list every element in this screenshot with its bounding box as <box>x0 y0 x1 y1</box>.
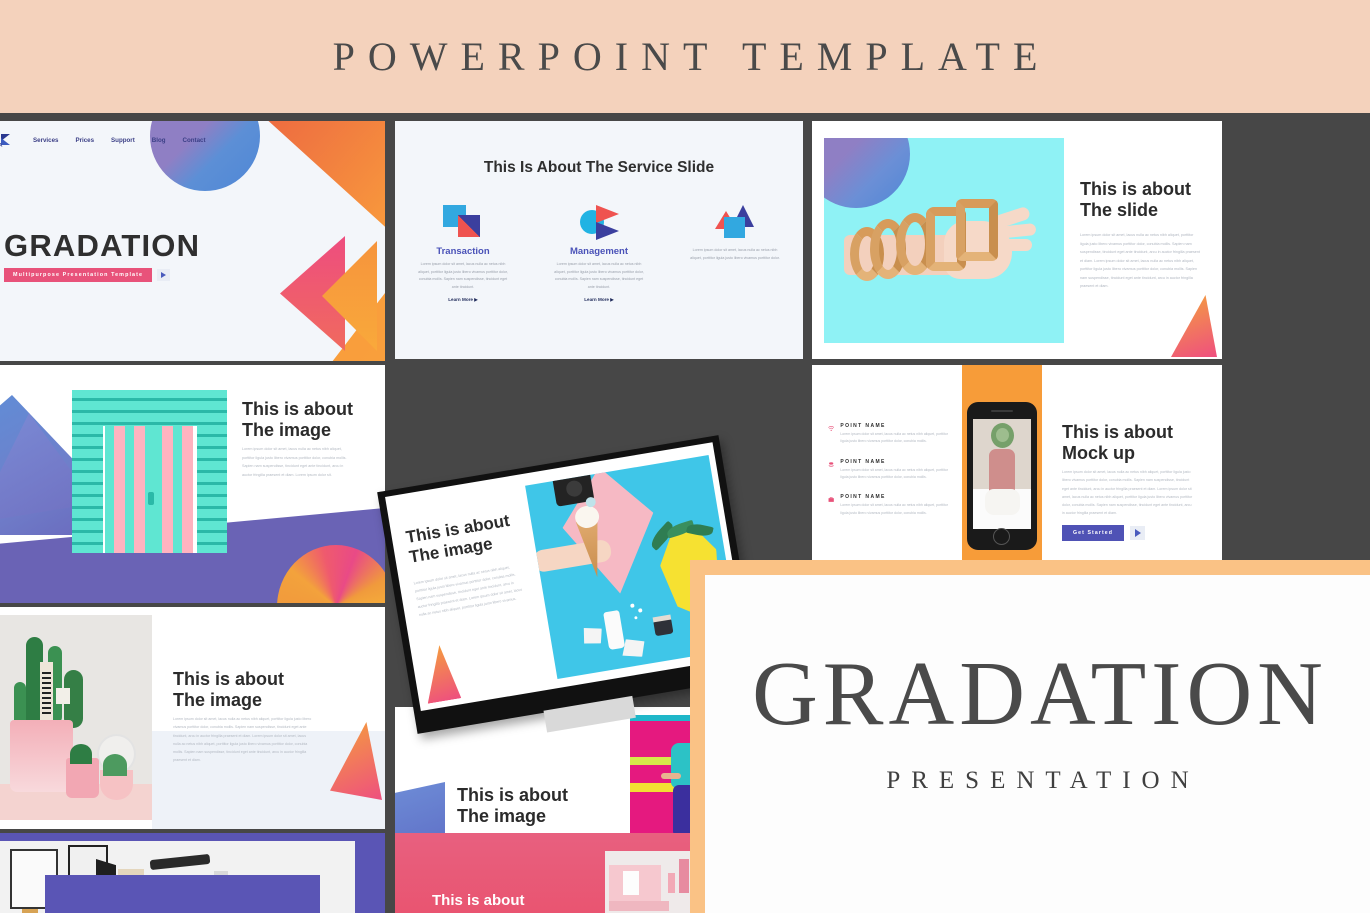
hand-bread-photo <box>824 138 1064 343</box>
slide-cactus-image[interactable]: This is about The image Lorem ipsum dolo… <box>0 607 385 829</box>
point-name: POINT NAME <box>840 494 953 500</box>
page-header: POWERPOINT TEMPLATE <box>0 0 1370 113</box>
hand-slide-heading: This is about The slide <box>1080 179 1191 221</box>
door-slide-heading: This is about The image <box>242 399 353 441</box>
list-item: POINT NAME Lorem ipsum dolor sit amet, l… <box>828 459 953 482</box>
get-started-button[interactable]: Get Started <box>1062 525 1124 541</box>
door-slide-body: Lorem ipsum dolor sit amet, lacus nulla … <box>242 445 354 479</box>
money-hand-icon <box>828 459 834 470</box>
point-text: Lorem ipsum dolor sit amet, lacus nulla … <box>840 502 953 517</box>
gradation-card-inner: GRADATION PRESENTATION <box>705 575 1370 913</box>
play-button-icon[interactable] <box>157 269 170 281</box>
cover-title: GRADATION <box>4 228 200 264</box>
cover-badge: Multipurpose Presentation Template <box>4 268 152 282</box>
cactus-slide-body: Lorem ipsum dolor sit amet, lacus nulla … <box>173 715 313 765</box>
overlay-title: GRADATION <box>747 648 1328 739</box>
page-title: POWERPOINT TEMPLATE <box>320 33 1051 80</box>
cover-nav-item-support[interactable]: Support <box>111 137 135 144</box>
service-column-title: Transaction <box>395 246 531 257</box>
gradation-presentation-card[interactable]: GRADATION PRESENTATION <box>690 560 1370 913</box>
pink-slide-heading: This is about <box>432 892 525 909</box>
transaction-squares-icon <box>395 201 531 243</box>
service-column-management: Management Lorem ipsum dolor sit amet, l… <box>531 201 667 303</box>
cactus-slide-heading: This is about The image <box>173 669 284 711</box>
mockup-button-row: Get Started <box>1062 525 1145 541</box>
service-learn-more-link[interactable]: Learn More ▶ <box>531 297 667 303</box>
service-column-text: Lorem ipsum dolor sit amet, lacus nulla … <box>531 261 667 291</box>
slide-door-image[interactable]: This is about The image Lorem ipsum dolo… <box>0 365 385 603</box>
service-columns: Transaction Lorem ipsum dolor sit amet, … <box>395 201 803 303</box>
cover-nav-item-contact[interactable]: Contact <box>183 137 206 144</box>
list-item: POINT NAME Lorem ipsum dolor sit amet, l… <box>828 423 953 446</box>
cover-navbar[interactable]: Services Prices Support Blog Contact <box>1 134 206 147</box>
point-text: Lorem ipsum dolor sit amet, lacus nulla … <box>840 467 953 482</box>
cover-nav-item-blog[interactable]: Blog <box>152 137 166 144</box>
hand-illustration <box>844 193 1039 303</box>
mockup-body: Lorem ipsum dolor sit amet, lacus nulla … <box>1062 468 1195 518</box>
gradient-circle-shape <box>150 121 260 191</box>
cover-nav-item-prices[interactable]: Prices <box>75 137 94 144</box>
list-item: POINT NAME Lorem ipsum dolor sit amet, l… <box>828 494 953 517</box>
slide-cover[interactable]: Services Prices Support Blog Contact RA … <box>0 121 385 361</box>
slide-service[interactable]: This Is About The Service Slide Transact… <box>395 121 803 359</box>
wifi-icon <box>828 423 834 434</box>
hand-slide-body: Lorem ipsum dolor sit amet, lacus nulla … <box>1080 231 1202 291</box>
briefcase-icon <box>828 494 834 505</box>
phone-screen-photo <box>973 419 1031 529</box>
service-title: This Is About The Service Slide <box>395 159 803 177</box>
point-name: POINT NAME <box>840 423 953 429</box>
monitor-slide-heading: This is about The image <box>404 511 514 569</box>
monitor-slide-body: Lorem ipsum dolor sit amet, lacus nulla … <box>413 562 524 619</box>
slide-hand-image[interactable]: This is about The slide Lorem ipsum dolo… <box>812 121 1222 359</box>
pink-room-photo <box>605 851 697 913</box>
slide-office-image[interactable] <box>0 833 385 913</box>
phone-mockup <box>967 402 1037 550</box>
point-text: Lorem ipsum dolor sit amet, lacus nulla … <box>840 431 953 446</box>
gradient-fan-shape <box>277 545 385 603</box>
service-column-third: Lorem ipsum dolor sit amet, lacus nulla … <box>667 201 803 303</box>
service-column-text: Lorem ipsum dolor sit amet, lacus nulla … <box>395 261 531 291</box>
slide-pink-bottom[interactable]: This is about <box>395 833 705 913</box>
point-name: POINT NAME <box>840 459 953 465</box>
cactus-photo <box>0 615 152 820</box>
striped-door-photo <box>72 390 227 553</box>
gradient-triangle-shape <box>1171 295 1217 357</box>
service-column-transaction: Transaction Lorem ipsum dolor sit amet, … <box>395 201 531 303</box>
mockup-point-list: POINT NAME Lorem ipsum dolor sit amet, l… <box>828 423 953 530</box>
play-button-icon[interactable] <box>1130 526 1145 540</box>
management-circle-arrow-icon <box>531 201 667 243</box>
brand-logo-text: RA <box>0 143 3 149</box>
service-learn-more-link[interactable]: Learn More ▶ <box>395 297 531 303</box>
overlay-subtitle: PRESENTATION <box>875 767 1199 795</box>
fashion-slide-heading: This is about The image <box>457 785 568 827</box>
purple-overlay-shape <box>45 875 320 913</box>
gradient-triangle-shape <box>419 643 462 704</box>
growth-arrow-icon <box>667 201 803 243</box>
cover-nav-item-services[interactable]: Services <box>33 137 58 144</box>
mockup-heading: This is about Mock up <box>1062 422 1173 464</box>
service-column-text: Lorem ipsum dolor sit amet, lacus nulla … <box>667 247 803 262</box>
cover-badge-row: Multipurpose Presentation Template <box>4 268 170 282</box>
service-column-title: Management <box>531 246 667 257</box>
